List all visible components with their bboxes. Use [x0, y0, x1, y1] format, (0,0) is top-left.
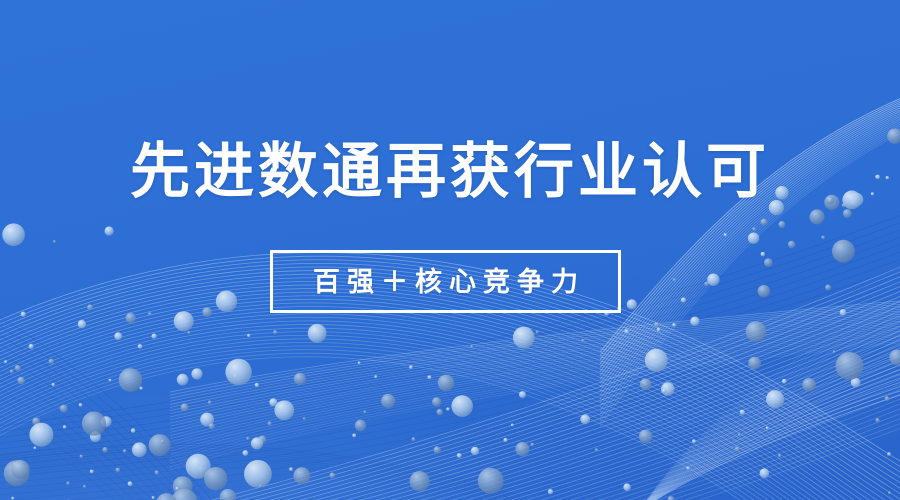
- subtitle-badge: 百强＋核心竞争力: [270, 250, 621, 313]
- banner-content: 先进数通再获行业认可 百强＋核心竞争力: [0, 0, 900, 500]
- promo-banner: 先进数通再获行业认可 百强＋核心竞争力: [0, 0, 900, 500]
- subtitle-text: 百强＋核心竞争力: [306, 267, 585, 297]
- page-title: 先进数通再获行业认可: [0, 137, 900, 207]
